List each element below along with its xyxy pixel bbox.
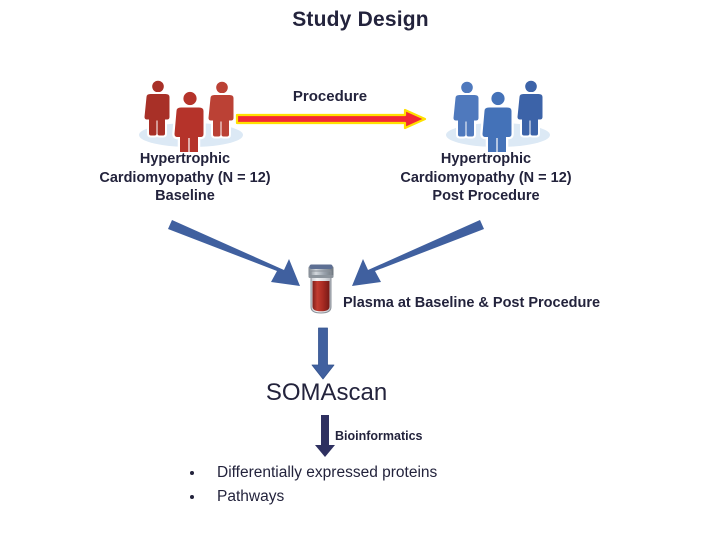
bullet-icon [190, 471, 194, 475]
assay-label: SOMAscan [0, 379, 653, 407]
list-item: Pathways [186, 485, 606, 509]
list-item: Differentially expressed proteins [186, 461, 606, 485]
caption-left-line1: Hypertrophic [35, 150, 335, 169]
caption-left-group: Hypertrophic Cardiomyopathy (N = 12) Bas… [35, 150, 335, 206]
plasma-sample-label: Plasma at Baseline & Post Procedure [343, 295, 600, 311]
bullet-icon [190, 495, 194, 499]
arrow-assay-to-outcomes-icon [313, 414, 337, 463]
caption-left-line3: Baseline [35, 187, 335, 206]
procedure-label: Procedure [235, 88, 425, 105]
blood-tube-icon [303, 263, 339, 322]
bioinformatics-label: Bioinformatics [335, 429, 423, 443]
caption-right-group: Hypertrophic Cardiomyopathy (N = 12) Pos… [336, 150, 636, 206]
study-design-diagram: Study Design [0, 0, 721, 542]
caption-right-line3: Post Procedure [336, 187, 636, 206]
list-item-label: Differentially expressed proteins [217, 464, 437, 481]
arrow-sample-to-assay-icon [310, 327, 336, 386]
procedure-arrow-icon [235, 108, 427, 135]
people-group-blue-icon [432, 72, 562, 152]
arrow-right-to-sample-icon [332, 218, 484, 295]
caption-right-line1: Hypertrophic [336, 150, 636, 169]
outcomes-list: Differentially expressed proteins Pathwa… [186, 461, 606, 509]
list-item-label: Pathways [217, 488, 284, 505]
arrow-left-to-sample-icon [168, 218, 320, 295]
page-title: Study Design [0, 8, 721, 32]
caption-left-line2: Cardiomyopathy (N = 12) [35, 169, 335, 188]
caption-right-line2: Cardiomyopathy (N = 12) [336, 169, 636, 188]
